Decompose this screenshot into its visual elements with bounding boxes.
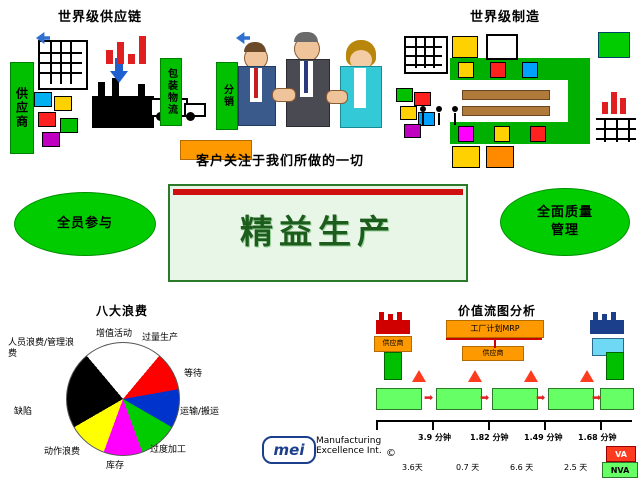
vsm-title: 价值流图分析 [458, 302, 536, 319]
red-accent-bar [173, 189, 463, 195]
tqm-bubble: 全面质量 管理 [500, 188, 630, 256]
process-box-5 [600, 388, 634, 410]
customer-factory-icon [590, 312, 624, 334]
cycle-time-2: 1.82 分钟 [470, 432, 509, 443]
lead-time-1: 3.6天 [402, 462, 423, 473]
lean-production-banner: 精益生产 [168, 184, 468, 282]
supplier-label-box: 供应商 [374, 336, 412, 352]
tqm-bubble-label: 全面质量 管理 [537, 204, 593, 239]
eight-wastes-title: 八大浪费 [96, 302, 148, 319]
inventory-triangle-2 [468, 370, 482, 382]
packaging-banner: 包装物流 [160, 58, 182, 126]
white-box-icon [486, 34, 518, 60]
pie-label-8: 人员浪费/管理浪 费 [8, 338, 74, 360]
mei-logo-mark: mei [262, 436, 316, 464]
top-left-title: 世界级供应链 [58, 6, 142, 25]
output-box-icon [452, 146, 480, 168]
mei-logo-text: Manufacturing Excellence Int. [316, 436, 382, 457]
left-supplier-banner: 供应商 [10, 62, 34, 154]
push-arrow-3: ➡ [536, 392, 545, 403]
green-box-icon [598, 32, 630, 58]
legend-va: VA [606, 446, 636, 462]
push-arrow-2: ➡ [480, 392, 489, 403]
legend-nva: NVA [602, 462, 638, 478]
supplier-schedule-box: 供应商 [462, 346, 524, 361]
supplier-factory-icon [376, 312, 410, 334]
slide-canvas: 世界级供应链 世界级制造 供应商 [0, 0, 640, 480]
pie-label-0: 增值活动 [96, 326, 132, 339]
inventory-triangle-3 [524, 370, 538, 382]
mei-logo-line1: Manufacturing [316, 436, 382, 446]
mei-logo-line2: Excellence Int. [316, 446, 382, 456]
lead-time-3: 6.6 天 [510, 462, 533, 473]
bar-chart-icon [104, 34, 148, 64]
factory-icon [92, 78, 154, 128]
pie-label-6: 动作浪费 [44, 444, 80, 457]
material-boxes-icon [34, 92, 88, 148]
right-bar-chart-icon [602, 86, 634, 114]
pie-label-4: 过度加工 [150, 442, 186, 455]
handshake-people-illustration [238, 30, 398, 142]
push-arrow-4: ➡ [592, 392, 601, 403]
timeline-baseline [376, 420, 632, 422]
right-grid-icon [596, 118, 636, 144]
mrp-box: 工厂计划MRP [446, 320, 544, 338]
pie-label-7: 缺陷 [14, 404, 32, 417]
pie-label-5: 库存 [106, 458, 124, 471]
inbound-flow-box [384, 352, 402, 380]
eight-wastes-pie [66, 342, 180, 456]
outbound-flow-box [606, 352, 624, 380]
output-box-icon-2 [486, 146, 514, 168]
pie-label-2: 等待 [184, 366, 202, 379]
lean-production-title: 精益生产 [170, 215, 466, 248]
yellow-box-icon [452, 36, 478, 58]
cycle-time-3: 1.49 分钟 [524, 432, 563, 443]
customer-focus-caption: 客户关注于我们所做的一切 [196, 150, 364, 169]
top-right-title: 世界级制造 [470, 6, 540, 25]
machine-grid-icon [404, 36, 448, 74]
lead-time-2: 0.7 天 [456, 462, 479, 473]
cycle-time-1: 3.9 分钟 [418, 432, 451, 443]
distribution-banner: 分销 [216, 62, 238, 130]
cycle-time-4: 1.68 分钟 [578, 432, 617, 443]
push-arrow-1: ➡ [424, 392, 433, 403]
pie-label-1: 过量生产 [142, 330, 178, 343]
inventory-triangle-1 [412, 370, 426, 382]
pie-label-3: 运输/搬运 [180, 404, 219, 417]
operators-icon [418, 106, 468, 132]
mrp-connector-v [494, 338, 496, 348]
warehouse-rack-icon [38, 40, 88, 90]
process-box-1 [376, 388, 422, 410]
process-box-3 [492, 388, 538, 410]
employee-involvement-bubble: 全员参与 [14, 192, 156, 256]
process-box-4 [548, 388, 594, 410]
process-box-2 [436, 388, 482, 410]
u-shaped-cell-icon [450, 58, 590, 144]
lead-time-4: 2.5 天 [564, 462, 587, 473]
mei-logo-copyright: © [386, 448, 396, 460]
inventory-triangle-4 [580, 370, 594, 382]
